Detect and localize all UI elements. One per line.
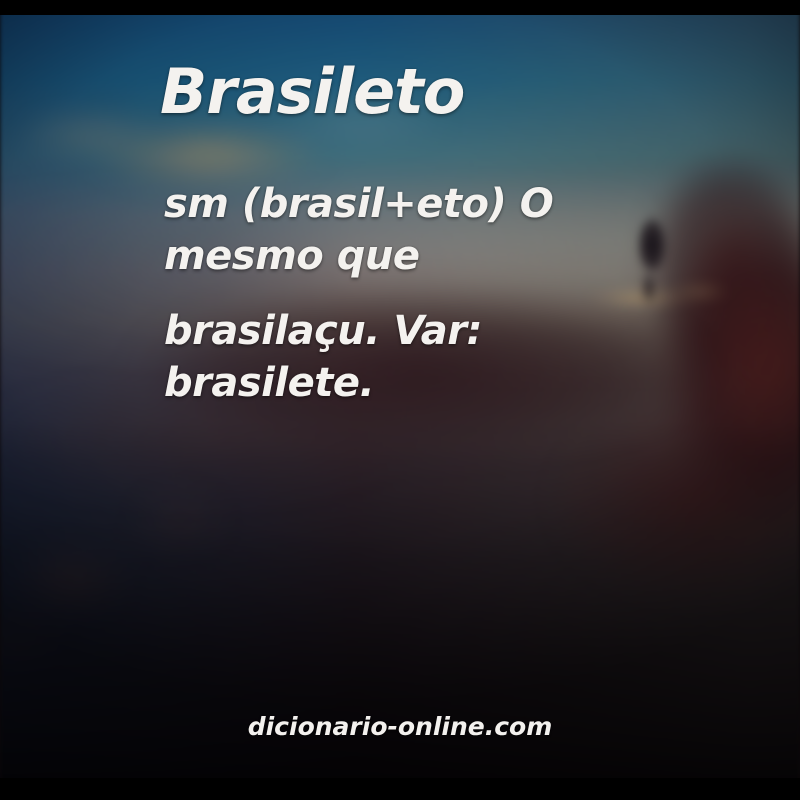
- definition-line-2: brasilaçu. Var: brasilete.: [164, 305, 634, 409]
- site-watermark: dicionario-online.com: [0, 712, 800, 741]
- text-overlay: Brasileto sm (brasil+eto) O mesmo que br…: [0, 0, 800, 800]
- definition-image-card: Brasileto sm (brasil+eto) O mesmo que br…: [0, 0, 800, 800]
- letterbox-bar-bottom: [0, 778, 800, 800]
- definition-line-1: sm (brasil+eto) O mesmo que: [164, 178, 634, 282]
- letterbox-bar-top: [0, 0, 800, 15]
- headword-title: Brasileto: [160, 58, 464, 126]
